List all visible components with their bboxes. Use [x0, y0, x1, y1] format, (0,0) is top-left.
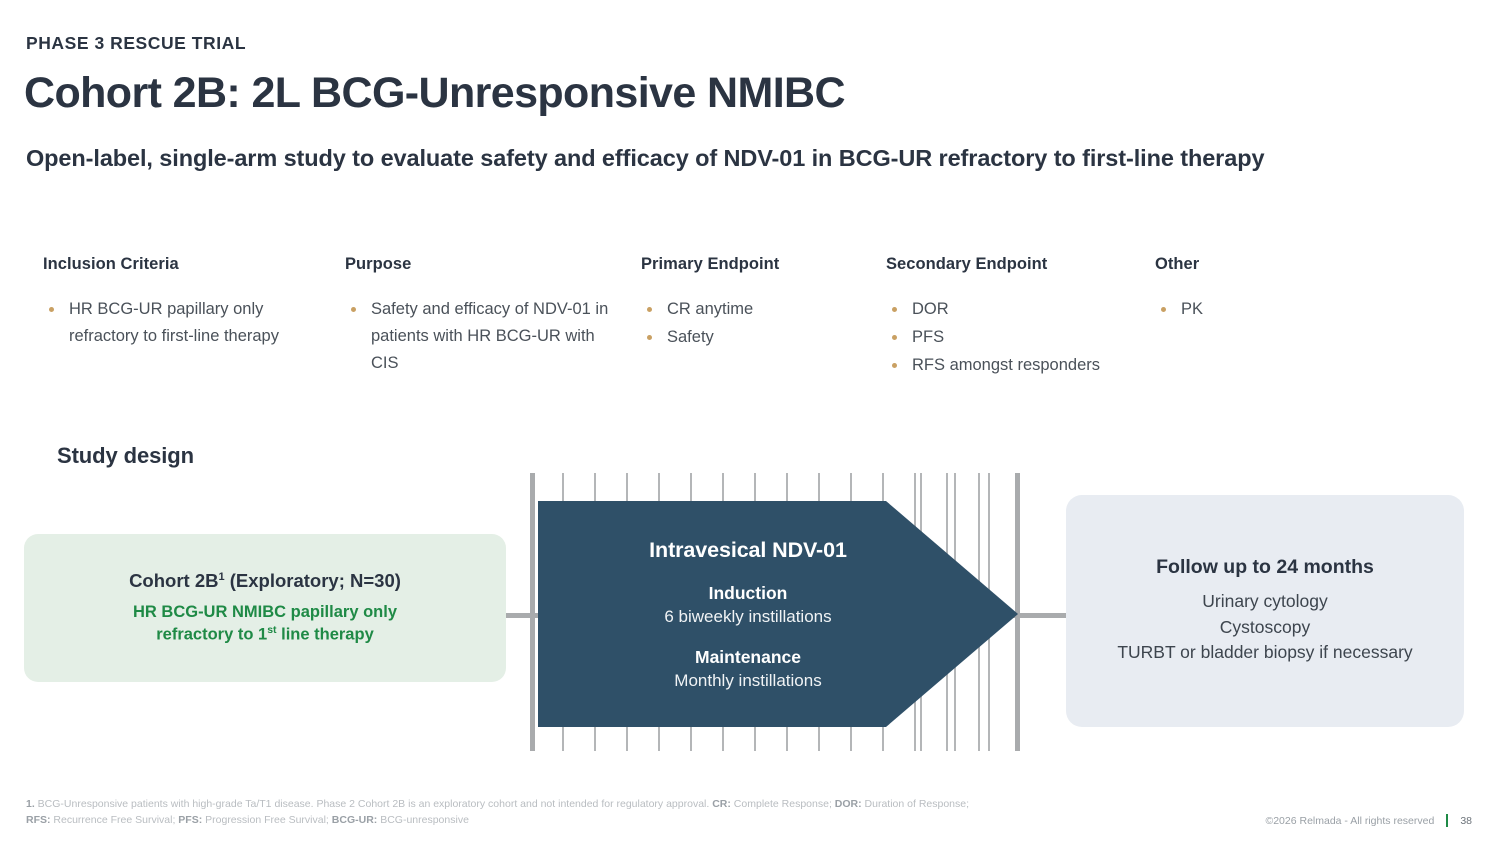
- list-item: CR anytime: [641, 296, 871, 323]
- maintenance-label: Maintenance: [695, 647, 801, 668]
- slide-root: PHASE 3 RESCUE TRIAL Cohort 2B: 2L BCG-U…: [0, 0, 1500, 843]
- cohort-box: Cohort 2B1 (Exploratory; N=30) HR BCG-UR…: [24, 534, 506, 682]
- list-item: Safety: [641, 324, 871, 351]
- footnote-text: BCG-Unresponsive patients with high-grad…: [35, 798, 712, 810]
- timeline-rail: [530, 473, 535, 751]
- list-item: Safety and efficacy of NDV-01 in patient…: [345, 296, 615, 378]
- maintenance-detail: Monthly instillations: [674, 671, 821, 691]
- abbrev-rfs-label: RFS:: [26, 814, 51, 826]
- cohort-title-main: Cohort 2B: [129, 570, 218, 591]
- abbrev-rfs-text: Recurrence Free Survival;: [51, 814, 179, 826]
- cohort-subtitle-line1: HR BCG-UR NMIBC papillary only: [133, 603, 397, 621]
- abbrev-bcgur-label: BCG-UR:: [332, 814, 378, 826]
- footnote-line-2: RFS: Recurrence Free Survival; PFS: Prog…: [26, 812, 1286, 828]
- induction-label: Induction: [709, 583, 788, 604]
- footnote-line-1: 1. BCG-Unresponsive patients with high-g…: [26, 796, 1286, 812]
- abbrev-bcgur-text: BCG-unresponsive: [377, 814, 469, 826]
- divider: [1446, 814, 1448, 827]
- induction-detail: 6 biweekly instillations: [664, 607, 831, 627]
- cohort-title-rest: (Exploratory; N=30): [225, 570, 401, 591]
- criteria-column-purpose: Purpose Safety and efficacy of NDV-01 in…: [345, 255, 615, 379]
- followup-title: Follow up to 24 months: [1156, 556, 1374, 579]
- cohort-subtitle: HR BCG-UR NMIBC papillary only refractor…: [133, 601, 397, 646]
- abbrev-pfs-label: PFS:: [178, 814, 202, 826]
- ordinal-suffix: st: [267, 624, 276, 636]
- list-item: PK: [1155, 296, 1355, 323]
- list-item: DOR: [886, 296, 1136, 323]
- followup-line: Urinary cytology: [1202, 589, 1327, 614]
- column-heading: Secondary Endpoint: [886, 255, 1136, 274]
- cohort-subtitle-line2-post: line therapy: [277, 626, 374, 644]
- page-number: 38: [1460, 815, 1472, 827]
- criteria-column-primary-endpoint: Primary Endpoint CR anytime Safety: [641, 255, 871, 352]
- abbrev-dor-text: Duration of Response;: [862, 798, 969, 810]
- abbrev-dor-label: DOR:: [835, 798, 862, 810]
- criteria-column-secondary-endpoint: Secondary Endpoint DOR PFS RFS amongst r…: [886, 255, 1136, 381]
- column-bullet-list: DOR PFS RFS amongst responders: [886, 296, 1136, 380]
- study-design-diagram: Cohort 2B1 (Exploratory; N=30) HR BCG-UR…: [0, 462, 1500, 762]
- abbrev-cr-text: Complete Response;: [731, 798, 835, 810]
- criteria-columns: Inclusion Criteria HR BCG-UR papillary o…: [0, 255, 1500, 415]
- abbrev-pfs-text: Progression Free Survival;: [202, 814, 332, 826]
- column-heading: Primary Endpoint: [641, 255, 871, 274]
- treatment-arrow: Intravesical NDV-01 Induction 6 biweekly…: [538, 501, 1018, 727]
- column-heading: Inclusion Criteria: [43, 255, 313, 274]
- page-title: Cohort 2B: 2L BCG-Unresponsive NMIBC: [24, 69, 845, 117]
- connector-line-right: [1012, 613, 1072, 618]
- column-bullet-list: Safety and efficacy of NDV-01 in patient…: [345, 296, 615, 378]
- treatment-title: Intravesical NDV-01: [649, 538, 847, 563]
- followup-box: Follow up to 24 months Urinary cytology …: [1066, 495, 1464, 727]
- cohort-subtitle-line2-pre: refractory to 1: [156, 626, 267, 644]
- connector-line-left: [506, 613, 540, 618]
- column-heading: Purpose: [345, 255, 615, 274]
- cohort-title: Cohort 2B1 (Exploratory; N=30): [129, 570, 401, 592]
- slide-eyebrow: PHASE 3 RESCUE TRIAL: [26, 33, 246, 54]
- column-bullet-list: HR BCG-UR papillary only refractory to f…: [43, 296, 313, 350]
- criteria-column-inclusion-criteria: Inclusion Criteria HR BCG-UR papillary o…: [43, 255, 313, 351]
- copyright-text: ©2026 Relmada - All rights reserved: [1265, 815, 1434, 827]
- footnotes: 1. BCG-Unresponsive patients with high-g…: [26, 796, 1286, 829]
- criteria-column-other: Other PK: [1155, 255, 1355, 324]
- arrow-content: Intravesical NDV-01 Induction 6 biweekly…: [538, 501, 958, 727]
- column-bullet-list: CR anytime Safety: [641, 296, 871, 351]
- abbrev-cr-label: CR:: [712, 798, 731, 810]
- column-bullet-list: PK: [1155, 296, 1355, 323]
- list-item: PFS: [886, 324, 1136, 351]
- footer-copyright: ©2026 Relmada - All rights reserved 38: [1265, 814, 1472, 827]
- followup-line: TURBT or bladder biopsy if necessary: [1117, 640, 1412, 665]
- footnote-marker: 1.: [26, 798, 35, 810]
- followup-line: Cystoscopy: [1220, 615, 1310, 640]
- list-item: HR BCG-UR papillary only refractory to f…: [43, 296, 313, 350]
- slide-subtitle: Open-label, single-arm study to evaluate…: [26, 142, 1426, 175]
- column-heading: Other: [1155, 255, 1355, 274]
- list-item: RFS amongst responders: [886, 352, 1136, 379]
